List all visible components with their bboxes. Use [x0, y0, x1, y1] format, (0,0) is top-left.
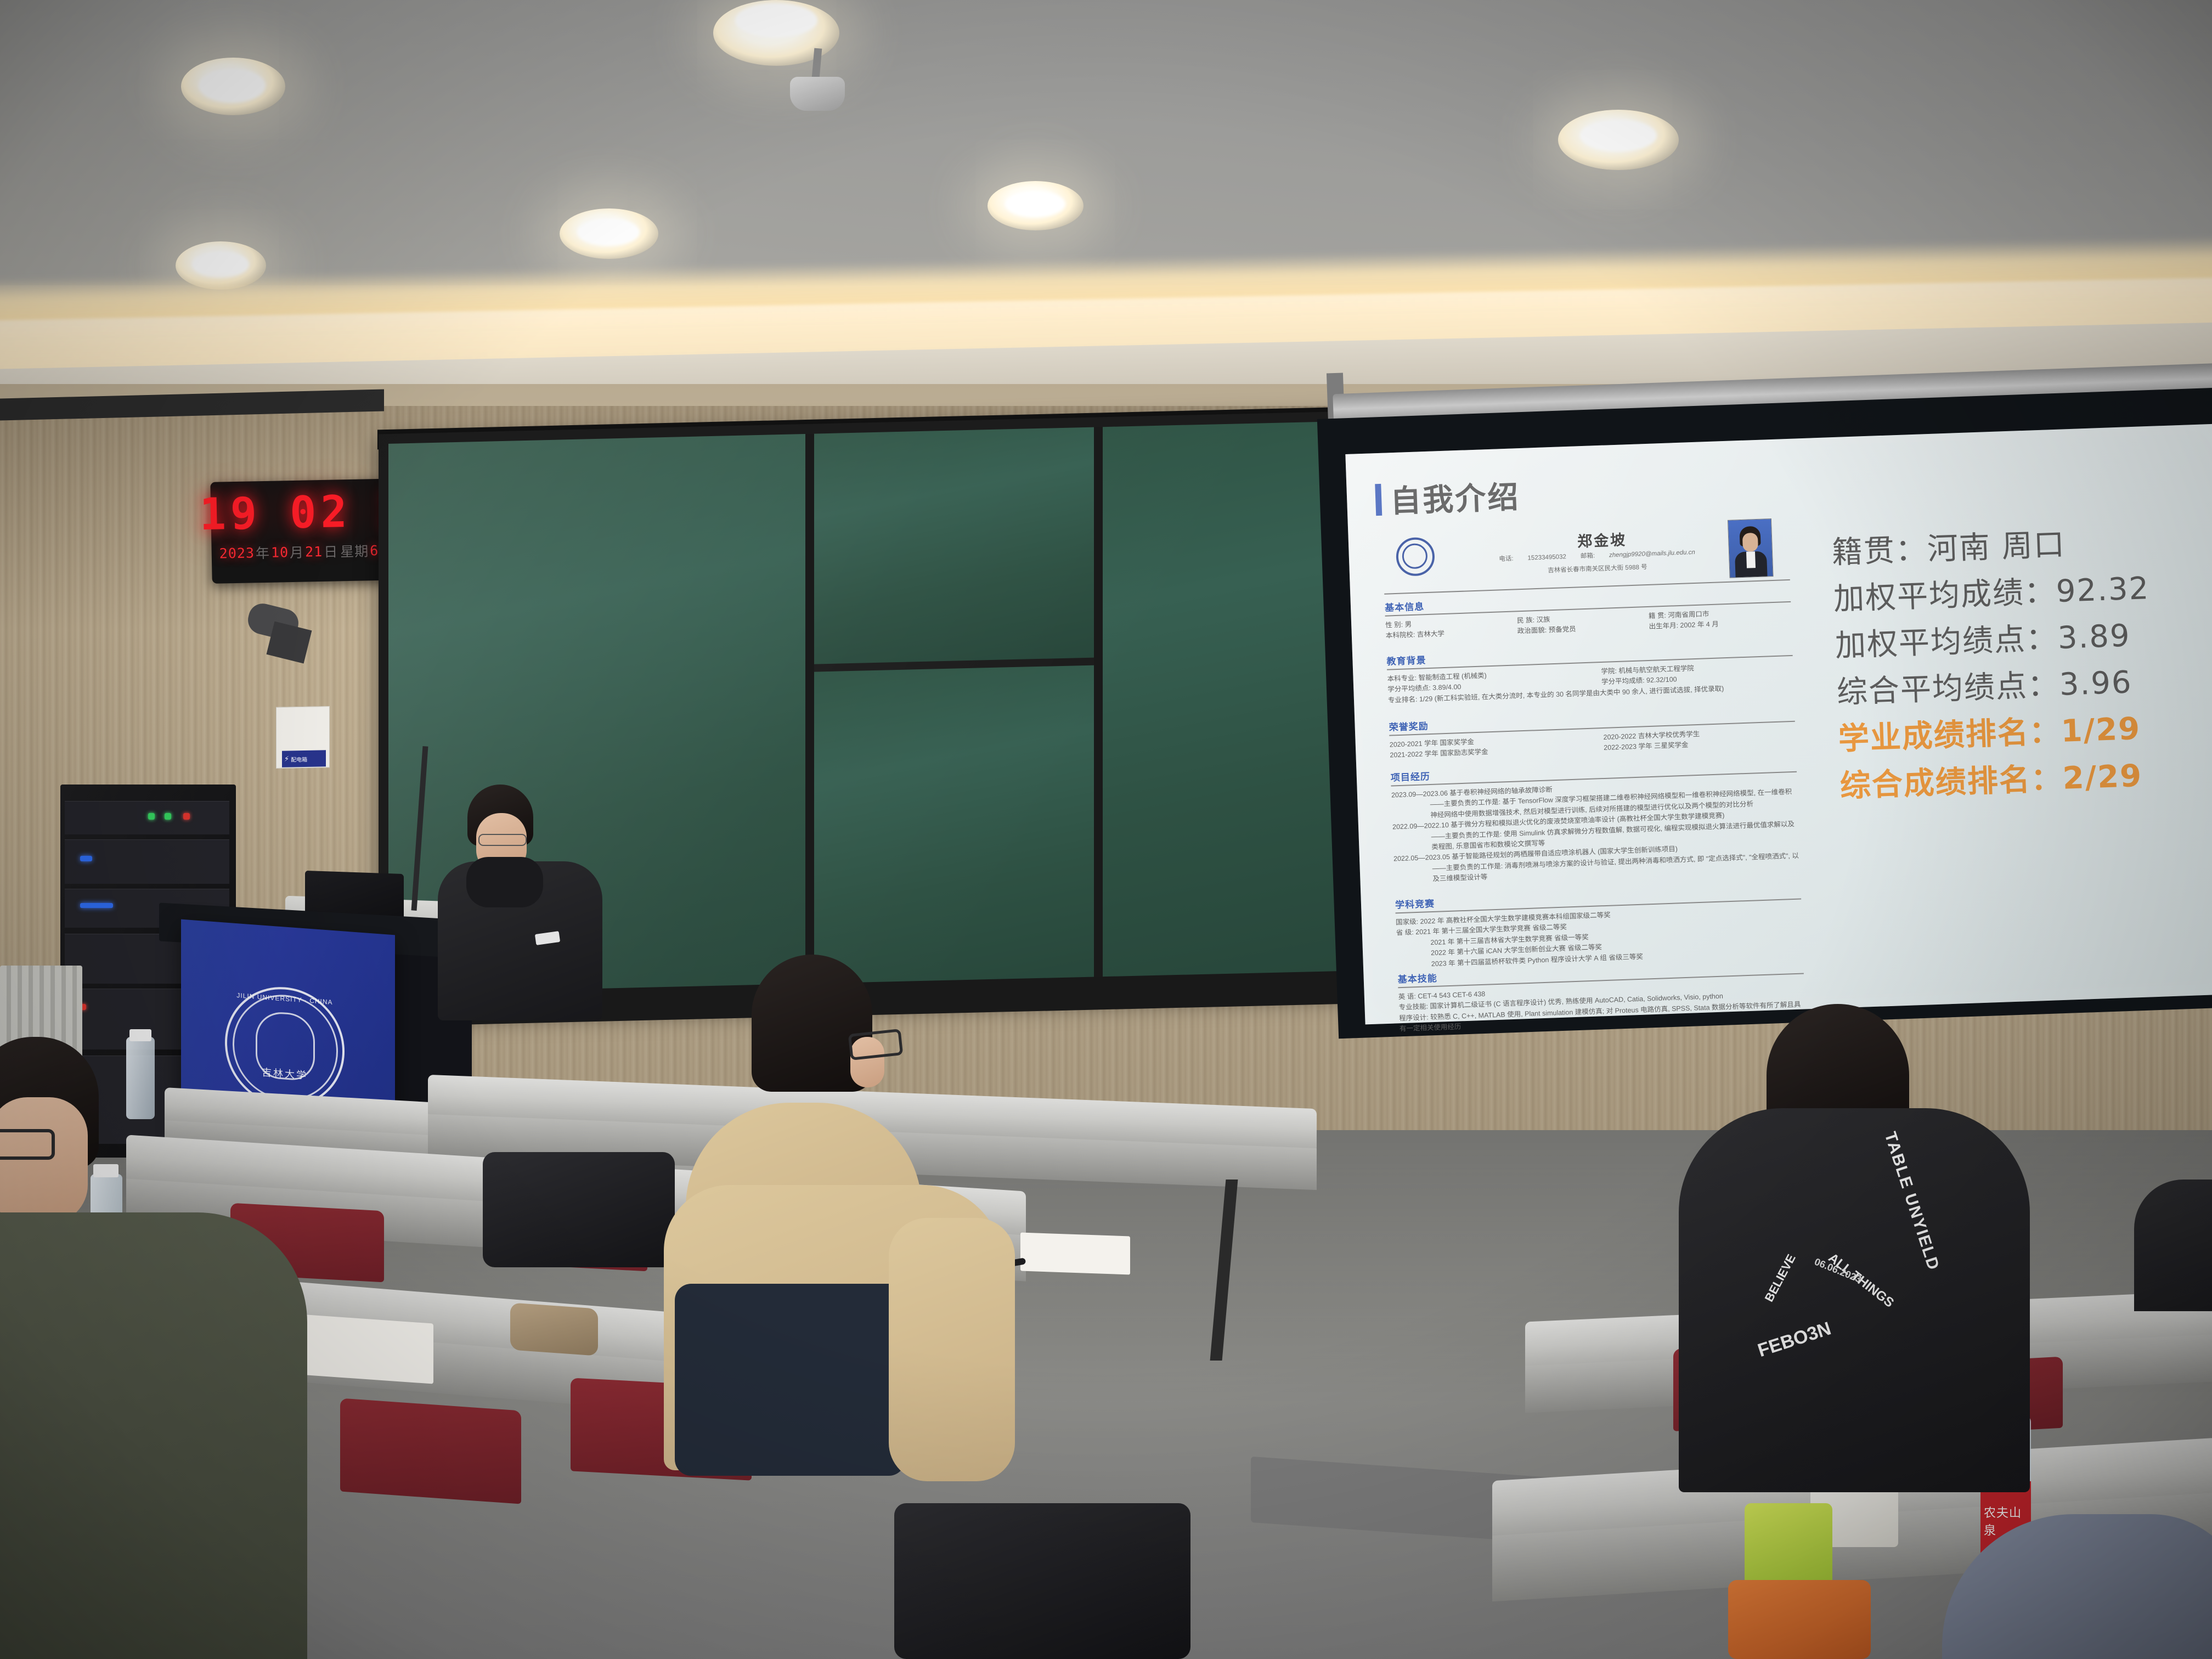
ceiling-downlight-core [1580, 120, 1657, 151]
clock-date-year-unit: 年 [256, 543, 270, 562]
distribution-box-sign[interactable]: ⚡ 配电箱 [282, 750, 326, 767]
rack-led-green[interactable] [165, 813, 171, 820]
clock-date-year: 2023 [219, 545, 255, 561]
university-seal-icon [1396, 537, 1435, 577]
chair[interactable] [340, 1398, 521, 1504]
student-right: TABLE UNYIELD ALL THINGS BELIEVE FEBO3N … [1679, 1004, 2041, 1498]
clock-date-day: 21 [305, 543, 323, 560]
student-glasses-icon [848, 1029, 903, 1060]
resume-section: 荣誉奖励 2020-2021 学年 国家奖学金 2020-2022 吉林大学校优… [1389, 706, 1796, 761]
rack-led-blue[interactable] [80, 856, 92, 861]
student-shoulder [2134, 1180, 2212, 1311]
resume-section: 项目经历 2023.09—2023.06 基于卷积神经网络的轴承故障诊断 ——主… [1390, 756, 1800, 886]
highlight-value: 3.96 [2059, 665, 2133, 703]
highlight-label: 综合成绩排名： [1839, 760, 2063, 804]
ceiling-downlight-core [735, 3, 817, 37]
highlight-label: 籍贯： [1831, 532, 1928, 571]
clock-weekday-prefix: 星期 [340, 540, 369, 561]
student-glasses-icon [0, 1129, 55, 1160]
hoodie-graphic-line: BELIEVE [1762, 1201, 1826, 1305]
hoodie-graphic-line: 06.06.2023 [1813, 1256, 1929, 1312]
blackboard-divider [1094, 427, 1103, 989]
projection-screen: 自我介绍 郑金坡 电话: 15233495032 邮箱: zhengjp9920… [1345, 424, 2212, 1025]
student-hood [1942, 1514, 2212, 1659]
distribution-box-label: 配电箱 [291, 754, 307, 763]
resume-section: 教育背景 本科专业: 智能制造工程 (机械类) 学院: 机械与航空航天工程学院 … [1386, 640, 1794, 706]
resume-section: 基本信息 性 别: 男 民 族: 汉族 籍 贯: 河南省周口市 本科院校: 吉林… [1385, 586, 1792, 642]
student-face [0, 1097, 88, 1223]
backpack[interactable] [483, 1152, 675, 1267]
lightning-bolt-icon: ⚡ [284, 754, 289, 763]
student-far-right [2134, 1147, 2212, 1289]
student-left-foreground [0, 1031, 318, 1657]
resume-card: 郑金坡 电话: 15233495032 邮箱: zhengjp9920@mail… [1376, 513, 1832, 1000]
slide-title: 自我介绍 [1390, 472, 1521, 521]
clock-minutes: 02 [289, 486, 352, 538]
student-jacket [0, 1212, 307, 1659]
student-shirt-dark [675, 1284, 905, 1476]
highlight-value: 92.32 [2056, 571, 2150, 610]
phone-label: 电话: [1499, 554, 1514, 564]
student-sleeve [889, 1218, 1015, 1481]
clock-hours: 19 [199, 488, 262, 540]
id-photo [1728, 518, 1774, 578]
rack-led-blue[interactable] [80, 903, 113, 908]
presenter-hood [466, 857, 543, 907]
email-label: 邮箱: [1581, 551, 1595, 561]
slide-title-block: 自我介绍 [1375, 472, 1521, 522]
highlight-label: 加权平均绩点： [1835, 620, 2058, 664]
rack-led-red[interactable] [183, 813, 190, 820]
projector-head [790, 77, 845, 111]
hoodie-graphic: TABLE UNYIELD ALL THINGS BELIEVE FEBO3N … [1723, 1185, 1975, 1415]
presenter-glasses-icon [478, 834, 527, 846]
id-photo-shirt [1746, 551, 1756, 568]
highlight-value: 河南 周口 [1927, 527, 2066, 567]
highlight-value: 2/29 [2062, 758, 2143, 796]
title-accent-bar [1375, 483, 1382, 515]
highlight-label: 学业成绩排名： [1838, 714, 2062, 757]
clock-date-month-unit: 月 [290, 542, 304, 562]
highlight-label: 加权平均成绩： [1833, 574, 2057, 617]
ceiling-downlight-core [577, 218, 640, 246]
highlight-label: 综合平均绩点： [1836, 667, 2060, 710]
rack-unit [65, 839, 229, 884]
clock-date-month: 10 [271, 544, 289, 561]
student-right-foreground [1942, 1481, 2212, 1659]
phone-value: 15233495032 [1527, 552, 1566, 563]
highlight-value: 3.89 [2057, 618, 2131, 657]
rack-unit [65, 801, 229, 834]
id-photo-face [1742, 533, 1758, 552]
slide-highlights: 籍贯：河南 周口 加权平均成绩：92.32 加权平均绩点：3.89 综合平均绩点… [1831, 515, 2212, 809]
presenter [433, 785, 614, 1015]
highlight-value: 1/29 [2061, 711, 2142, 749]
hoodie-graphic-line: FEBO3N [1755, 1304, 1876, 1362]
clock-weekday: 6 [370, 542, 379, 558]
student-center [653, 955, 1037, 1602]
ceiling-downlight-core [199, 69, 266, 103]
papers[interactable] [1020, 1233, 1130, 1275]
pencil-case[interactable] [510, 1302, 598, 1356]
orange-pouch[interactable] [1728, 1580, 1871, 1659]
seal-inner-ring [1402, 543, 1428, 569]
blackboard-divider [805, 434, 814, 996]
ceiling-downlight-core [192, 251, 249, 278]
resume-section: 学科竞赛 国家级: 2022 年 高教社杯全国大学生数学建模竞赛本科组国家级二等… [1395, 883, 1803, 971]
clock-date-day-unit: 日 [324, 541, 338, 561]
ceiling-downlight-core [1005, 191, 1065, 217]
lecture-hall-photo: 19 02 18 2023 年 10 月 21 日 星期 6 — 第 9 周 7… [0, 0, 2212, 1659]
rack-led-green[interactable] [148, 813, 155, 820]
